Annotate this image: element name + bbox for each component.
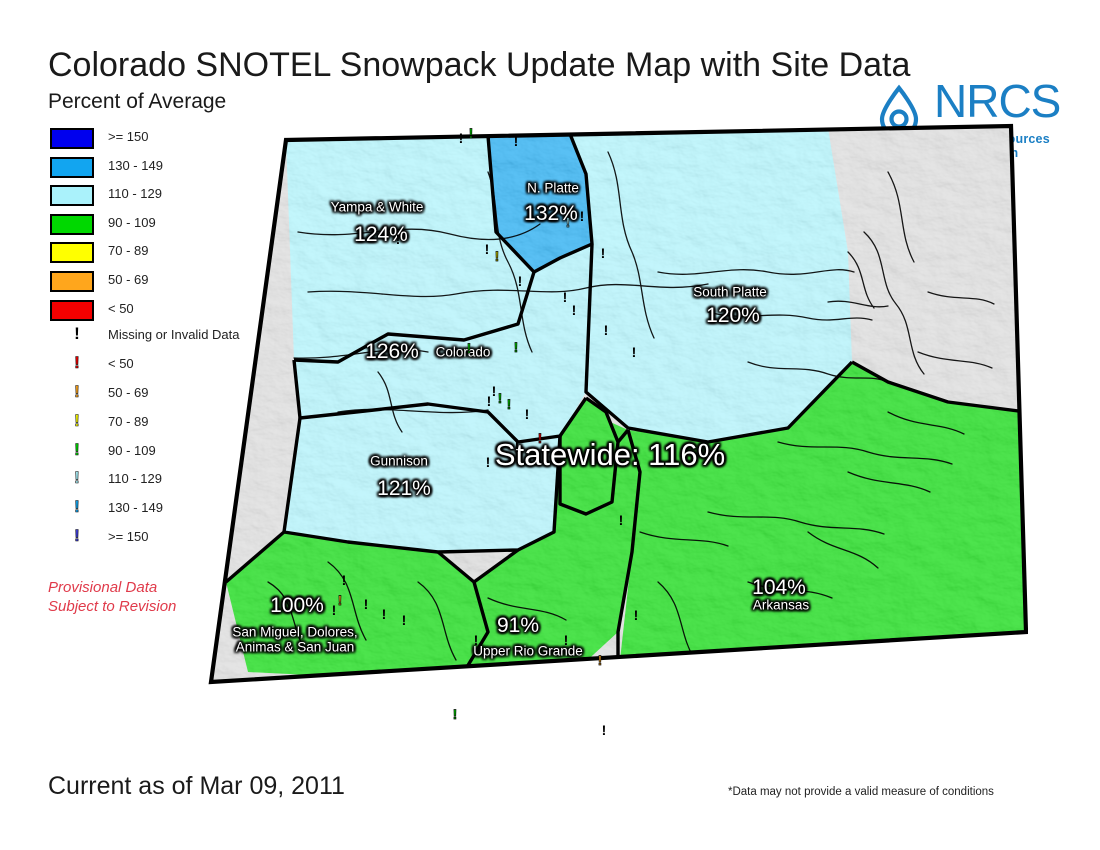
- legend-label: < 50: [108, 301, 134, 316]
- legend-label: >= 150: [108, 129, 149, 144]
- exclamation-icon: !: [70, 324, 84, 344]
- legend-swatch: [50, 300, 94, 321]
- provisional-line-2: Subject to Revision: [48, 597, 176, 616]
- provisional-data-note: Provisional Data Subject to Revision: [48, 578, 176, 616]
- site-legend-label: 130 - 149: [108, 500, 163, 515]
- site-legend-label: 70 - 89: [108, 414, 148, 429]
- page-subtitle: Percent of Average: [48, 90, 226, 114]
- exclamation-icon: !: [70, 411, 84, 431]
- site-legend-label: >= 150: [108, 529, 149, 544]
- page-title: Colorado SNOTEL Snowpack Update Map with…: [48, 46, 910, 85]
- legend-label: 50 - 69: [108, 272, 148, 287]
- legend-swatch: [50, 185, 94, 206]
- disclaimer-note: *Data may not provide a valid measure of…: [728, 786, 994, 798]
- legend-label: 90 - 109: [108, 215, 156, 230]
- site-legend-label: < 50: [108, 356, 134, 371]
- legend-swatch: [50, 242, 94, 263]
- exclamation-icon: !: [70, 440, 84, 460]
- legend-label: 130 - 149: [108, 158, 163, 173]
- current-as-of-label: Current as of Mar 09, 2011: [48, 772, 345, 801]
- colorado-snotel-map: [188, 112, 1028, 752]
- site-legend-label: 50 - 69: [108, 385, 148, 400]
- legend-label: 70 - 89: [108, 243, 148, 258]
- site-legend-label: 110 - 129: [108, 471, 162, 486]
- exclamation-icon: !: [70, 497, 84, 517]
- exclamation-icon: !: [70, 353, 84, 373]
- provisional-line-1: Provisional Data: [48, 578, 176, 597]
- exclamation-icon: !: [70, 382, 84, 402]
- exclamation-icon: !: [70, 468, 84, 488]
- exclamation-icon: !: [70, 526, 84, 546]
- site-legend-label: 90 - 109: [108, 443, 156, 458]
- legend-swatch: [50, 214, 94, 235]
- snotel-map-page: Colorado SNOTEL Snowpack Update Map with…: [0, 0, 1100, 850]
- legend-swatch: [50, 271, 94, 292]
- legend-swatch: [50, 128, 94, 149]
- legend-label: 110 - 129: [108, 186, 162, 201]
- legend-swatch: [50, 157, 94, 178]
- map-svg: [188, 112, 1028, 752]
